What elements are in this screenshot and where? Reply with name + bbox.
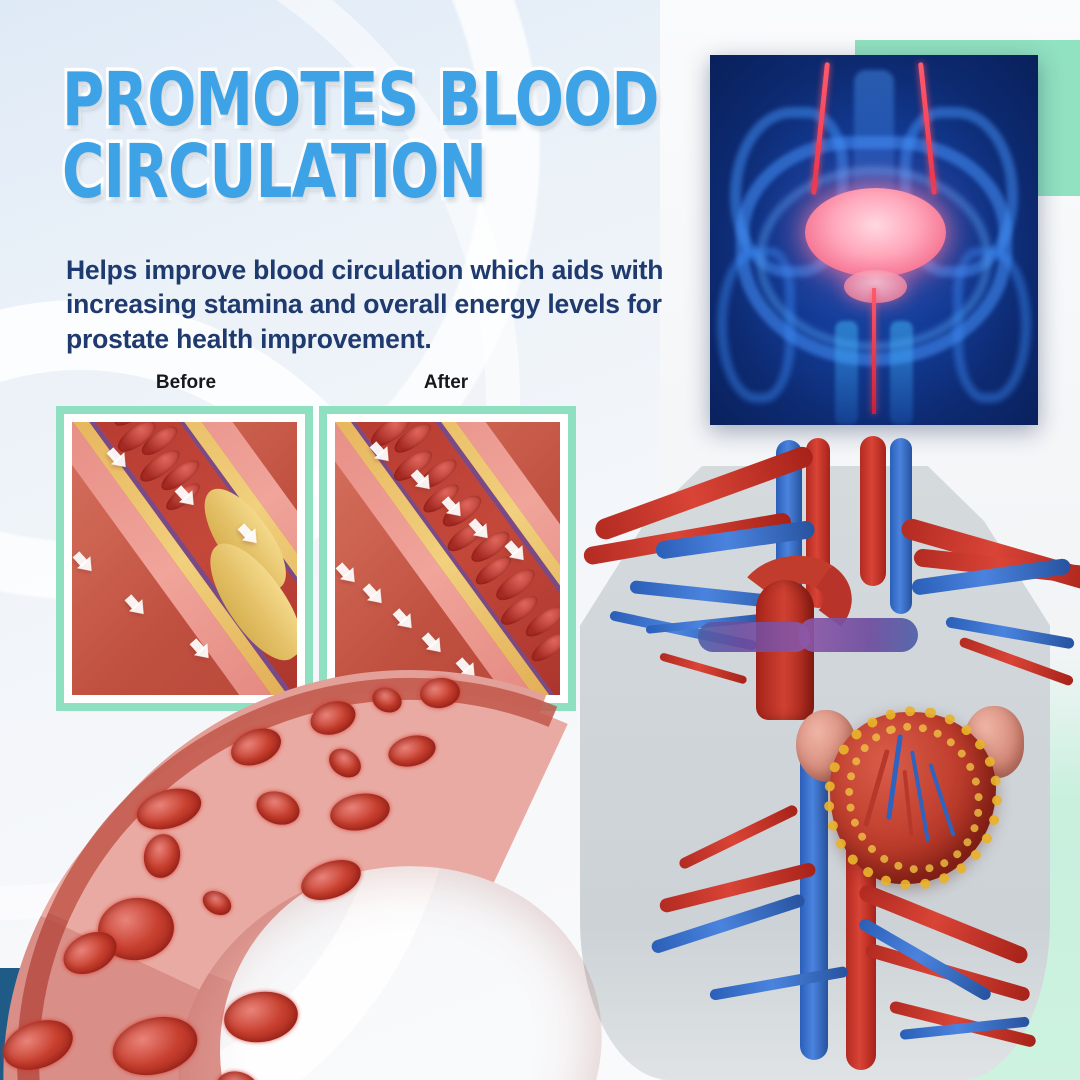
femur-left-shape: [717, 247, 796, 402]
heart-organ: [818, 696, 1008, 892]
urethra-shape: [872, 288, 876, 414]
prostate-xray-image: [710, 55, 1038, 425]
after-label: After: [316, 372, 576, 394]
artery-superior-2: [860, 436, 886, 586]
description-text: Helps improve blood circulation which ai…: [66, 253, 686, 356]
headline-line-1: PROMOTES BLOOD: [62, 66, 561, 134]
page-title: PROMOTES BLOOD CIRCULATION: [62, 66, 702, 206]
leg-bone-left: [835, 321, 858, 425]
femur-right-shape: [953, 247, 1032, 402]
headline-line-2: CIRCULATION: [62, 138, 561, 206]
before-after-labels: Before After: [56, 372, 576, 402]
before-label: Before: [56, 372, 316, 394]
bladder-shape: [805, 188, 946, 277]
infographic-canvas: PROMOTES BLOOD CIRCULATION Helps improve…: [0, 0, 1080, 1080]
pulmonary-vessel-right: [798, 618, 918, 652]
blood-vessel-illustration: [0, 640, 700, 1080]
pulmonary-vessel-left: [698, 622, 810, 652]
leg-bone-right: [890, 321, 913, 425]
